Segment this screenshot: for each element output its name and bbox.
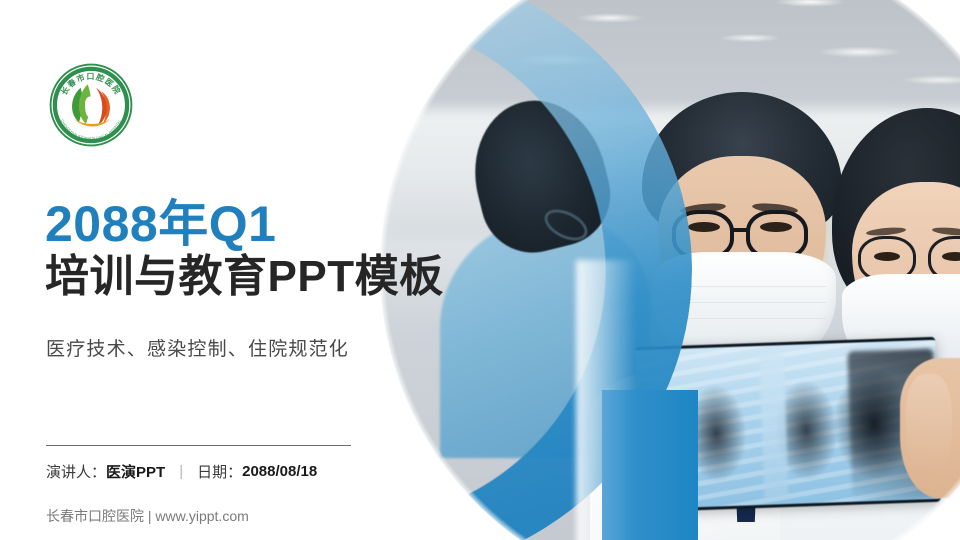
title-block: 2088年Q1 培训与教育PPT模板 <box>45 198 515 303</box>
speaker-value: 医演PPT <box>106 461 165 482</box>
title-line-2: 培训与教育PPT模板 <box>45 252 515 303</box>
subtitle: 医疗技术、感染控制、住院规范化 <box>46 334 349 361</box>
divider-rule <box>46 445 351 446</box>
meta-row: 演讲人： 医演PPT | 日期： 2088/08/18 <box>46 461 317 482</box>
doctor-right-hand <box>900 358 960 498</box>
date-label: 日期： <box>197 461 242 482</box>
left-content-panel: 长春市口腔医院 CHANGCHUN STOMATOLOGICAL HOSPITA… <box>0 0 420 540</box>
hospital-logo: 长春市口腔医院 CHANGCHUN STOMATOLOGICAL HOSPITA… <box>48 62 134 148</box>
title-slide: 长春市口腔医院 CHANGCHUN STOMATOLOGICAL HOSPITA… <box>0 0 960 540</box>
speaker-label: 演讲人： <box>46 461 106 482</box>
credit-line: 长春市口腔医院 | www.yippt.com <box>46 506 249 526</box>
doctor-center-eyeglass-bridge <box>732 228 750 232</box>
date-value: 2088/08/18 <box>242 463 317 480</box>
title-line-1: 2088年Q1 <box>45 198 515 250</box>
meta-separator: | <box>179 463 183 480</box>
xray-spine <box>759 354 788 499</box>
